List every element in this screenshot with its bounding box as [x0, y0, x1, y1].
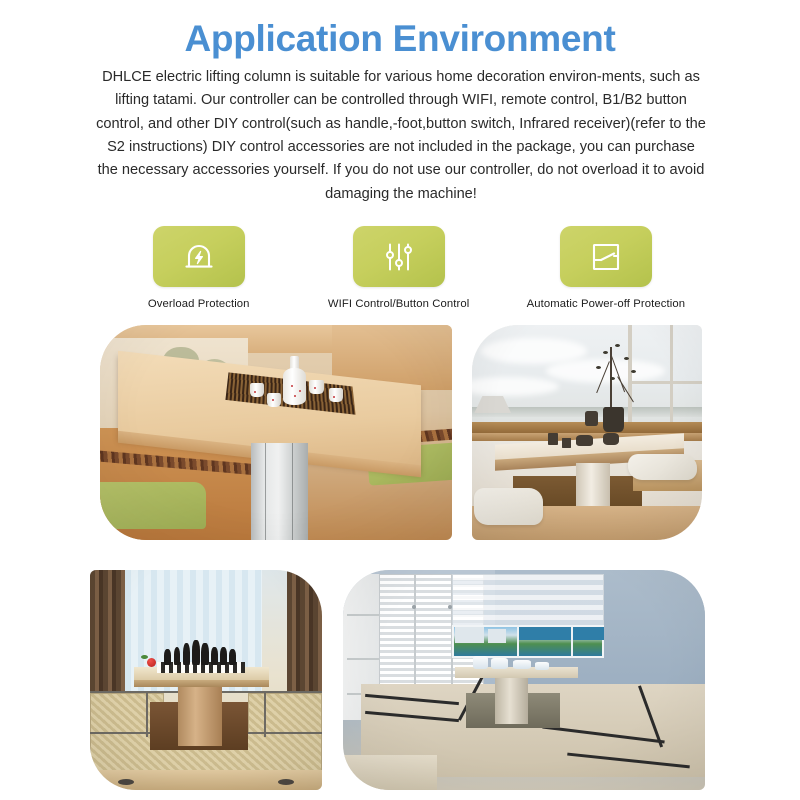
- feature-label: WIFI Control/Button Control: [328, 298, 469, 310]
- photo-tatami-room-chess-table: [90, 570, 322, 790]
- photo-bright-window-room-tea-table: [472, 325, 702, 540]
- application-environment-page: Application Environment DHLCE electric l…: [0, 0, 800, 800]
- photo-blue-room-shutters-sea-view: [343, 570, 705, 790]
- circuit-switch-icon: [590, 241, 622, 273]
- overload-dome-bolt-icon: [182, 240, 216, 274]
- power-off-protection-badge: [560, 226, 652, 287]
- feature-label: Overload Protection: [148, 298, 250, 310]
- sliders-icon: [382, 240, 416, 274]
- page-title: Application Environment: [0, 20, 800, 59]
- feature-wifi-button-control: WIFI Control/Button Control: [297, 226, 499, 310]
- wifi-control-badge: [353, 226, 445, 287]
- description-paragraph: DHLCE electric lifting column is suitabl…: [95, 66, 707, 206]
- photo-tatami-dining-table-with-sake-set: [100, 325, 452, 540]
- feature-label: Automatic Power-off Protection: [527, 298, 686, 310]
- feature-overload-protection: Overload Protection: [100, 226, 297, 310]
- feature-list: Overload Protection WIFI Control/Button …: [100, 226, 712, 316]
- overload-protection-badge: [153, 226, 245, 287]
- feature-automatic-power-off: Automatic Power-off Protection: [500, 226, 712, 310]
